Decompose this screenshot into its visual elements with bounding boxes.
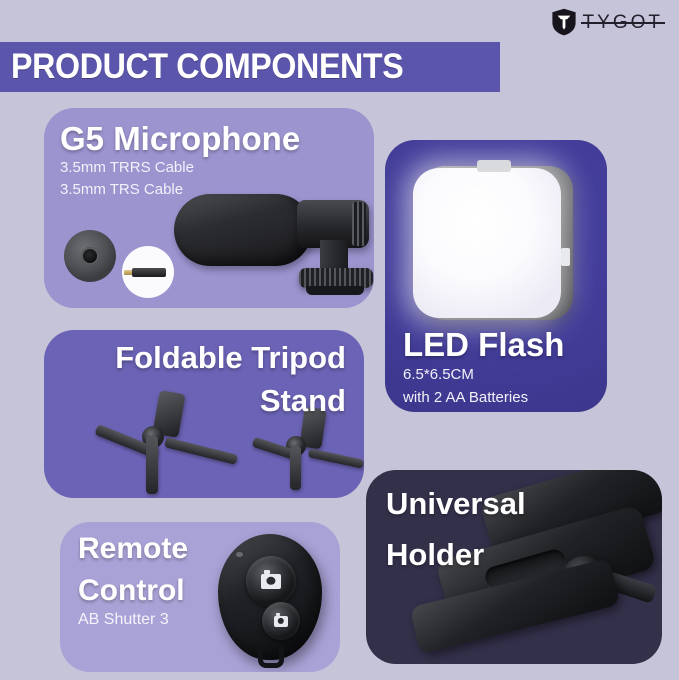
page-title-band: PRODUCT COMPONENTS <box>0 42 500 92</box>
holder-title-line-2: Holder <box>366 521 526 572</box>
card-remote-control[interactable]: Remote Control AB Shutter 3 <box>60 522 340 672</box>
mic-jack-port-icon <box>64 230 116 282</box>
microphone-sub-1: 3.5mm TRRS Cable <box>44 155 300 177</box>
tripod-stand-icon-folded <box>258 408 364 492</box>
brand-logo: TYGOT <box>551 8 663 36</box>
mic-barrel-rings <box>352 202 366 246</box>
shield-logo-icon <box>551 8 577 36</box>
card-tripod-stand[interactable]: Foldable Tripod Stand <box>44 330 364 498</box>
led-sub-1: 6.5*6.5CM <box>403 361 564 384</box>
led-top-tab <box>477 160 511 172</box>
microphone-text-block: G5 Microphone 3.5mm TRRS Cable 3.5mm TRS… <box>44 108 300 200</box>
tripod-leg-right <box>164 437 238 465</box>
camera-icon-small <box>274 616 288 627</box>
remote-sub-1: AB Shutter 3 <box>60 606 188 630</box>
tripod-title-line-2: Stand <box>44 373 364 416</box>
led-side-button <box>561 248 570 266</box>
tripod-title-line-1: Foldable Tripod <box>44 330 364 373</box>
led-sub-2: with 2 AA Batteries <box>403 384 564 407</box>
page-title: PRODUCT COMPONENTS <box>0 47 403 87</box>
remote-lanyard-loop <box>258 646 284 668</box>
bluetooth-remote-shutter-icon <box>218 534 322 660</box>
mic-plug-body <box>132 268 166 277</box>
card-universal-holder[interactable]: Universal Holder <box>366 470 662 664</box>
holder-text-block: Universal Holder <box>366 470 526 571</box>
mic-shoe-foot <box>306 286 364 295</box>
remote-title-line-1: Remote <box>60 522 188 564</box>
remote-shutter-button-primary <box>246 556 296 606</box>
holder-title-line-1: Universal <box>366 470 526 521</box>
tripod-text-block: Foldable Tripod Stand <box>44 330 364 416</box>
remote-text-block: Remote Control AB Shutter 3 <box>60 522 188 630</box>
mic-shoe-mount <box>299 268 373 288</box>
card-microphone[interactable]: G5 Microphone 3.5mm TRRS Cable 3.5mm TRS… <box>44 108 374 308</box>
microphone-title: G5 Microphone <box>44 108 300 155</box>
led-diffuser-panel <box>413 168 561 318</box>
tripod-leg-folded-right <box>308 448 364 468</box>
remote-indicator-led <box>236 552 243 557</box>
brand-name: TYGOT <box>583 13 663 32</box>
card-led-flash[interactable]: LED Flash 6.5*6.5CM with 2 AA Batteries <box>385 140 607 412</box>
microphone-sub-2: 3.5mm TRS Cable <box>44 177 300 199</box>
mic-windscreen-body <box>174 194 312 266</box>
mic-jack-hole <box>81 247 99 265</box>
camera-icon <box>261 574 281 589</box>
remote-shutter-button-secondary <box>262 602 300 640</box>
tripod-leg-folded-center <box>290 446 301 490</box>
led-title: LED Flash <box>403 328 564 361</box>
led-text-block: LED Flash 6.5*6.5CM with 2 AA Batteries <box>403 328 564 408</box>
tripod-leg-center <box>146 436 158 494</box>
remote-title-line-2: Control <box>60 564 188 606</box>
mic-trs-plug-icon <box>122 246 174 298</box>
